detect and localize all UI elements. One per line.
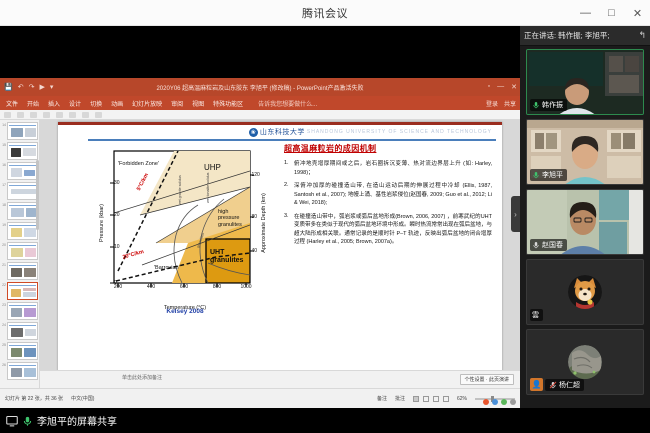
collapse-roster-button[interactable]: ›	[511, 196, 520, 232]
avatar	[568, 345, 602, 379]
window-title: 腾讯会议	[302, 5, 348, 21]
thumbnail-preview[interactable]	[7, 202, 38, 220]
shared-screen-region[interactable]: 💾 ↶ ↷ ▶ ▾ 2020Y06 超高温麻粒岩及山东胶东 李旭平 (修改稿) …	[0, 26, 520, 408]
bullet-number: 1.	[284, 160, 291, 177]
ribbon-command-icon[interactable]	[82, 112, 89, 118]
microphone-on-icon	[532, 101, 540, 109]
thumbnail-scrollbar[interactable]	[36, 160, 39, 230]
slide-text-column: 超高温麻粒岩的成因机制 1. 俯冲地壳增厚期间或之后，岩石圈拆沉变薄、热对流边界…	[284, 143, 492, 252]
thumbnail-preview[interactable]	[7, 242, 38, 260]
x-tick-label: 200	[114, 284, 122, 290]
tencent-meeting-window: 腾讯会议 — □ ✕ 💾 ↶ ↷ ▶ ▾ 2020Y06 超高	[0, 0, 650, 433]
thumbnail-preview[interactable]	[7, 162, 38, 180]
view-mode-buttons[interactable]	[413, 396, 449, 402]
y2-axis-label: Approximate Depth (km)	[261, 193, 267, 253]
thumbnail-preview[interactable]	[7, 122, 38, 140]
annotation-forbidden-zone: 'Forbidden Zone'	[118, 161, 159, 167]
language-indicator[interactable]: 中文(中国)	[71, 395, 94, 402]
active-speaker-bar: 正在讲话: 韩作振; 李旭平; ↰	[520, 26, 650, 46]
slide-thumbnail[interactable]: 14	[1, 122, 38, 140]
annotation-hp-granulites: high pressure granulites	[218, 209, 250, 228]
y-axis-label: Pressure (kbar)	[99, 204, 105, 242]
thumbnail-number: 15	[1, 142, 6, 147]
powerpoint-window: 💾 ↶ ↷ ▶ ▾ 2020Y06 超高温麻粒岩及山东胶东 李旭平 (修改稿) …	[0, 78, 520, 408]
participant-tile[interactable]: 李旭平	[526, 119, 644, 185]
microphone-muted-icon	[549, 381, 557, 389]
y2-tick-label: 120	[252, 172, 260, 178]
x-axis-label: Temperature (°C)	[96, 305, 274, 311]
ribbon-command-icon[interactable]	[95, 112, 102, 118]
avatar-container	[527, 260, 643, 324]
close-button[interactable]: ✕	[631, 7, 644, 20]
notes-toggle[interactable]: 备注	[377, 395, 387, 402]
screen-share-icon[interactable]	[6, 415, 18, 427]
remote-control-icon[interactable]	[501, 399, 507, 405]
thumbnail-number: 17	[1, 182, 6, 187]
slide-thumbnail[interactable]: 17	[1, 182, 38, 200]
window-controls: — □ ✕	[579, 0, 644, 26]
slide-thumbnail[interactable]: 24	[1, 322, 38, 340]
screen-share-status-label: 李旭平的屏幕共享	[37, 413, 117, 428]
university-logo: ❀ 山东科技大学 SHANDONG UNIVERSITY OF SCIENCE …	[249, 127, 492, 137]
ppt-close-icon[interactable]: ✕	[511, 83, 517, 91]
thumbnail-preview[interactable]	[7, 362, 38, 380]
thumbnail-number: 26	[1, 362, 6, 367]
slide-thumbnail[interactable]: 25	[1, 342, 38, 360]
participant-tile[interactable]: 韩作振	[526, 49, 644, 115]
slide-thumbnail-panel[interactable]: 14 15	[0, 120, 40, 388]
university-logo-text: 山东科技大学	[260, 127, 305, 137]
ribbon-command-icon[interactable]	[56, 112, 63, 118]
participant-name-tag: 韩作振	[530, 99, 567, 111]
slide-thumbnail[interactable]: 26	[1, 362, 38, 380]
ppt-restore-icon[interactable]: ▫	[488, 83, 490, 91]
thumbnail-preview[interactable]	[7, 142, 38, 160]
window-title-bar: 腾讯会议 — □ ✕	[0, 0, 650, 26]
thumbnail-number: 23	[1, 302, 6, 307]
powerpoint-ribbon-tabs[interactable]: 文件 开始 插入 设计 切换 动画 幻灯片放映 审阅 视图 特殊功能区 告诉我您…	[0, 96, 520, 110]
thumbnail-number: 25	[1, 342, 6, 347]
meeting-bottom-bar: 李旭平的屏幕共享	[0, 408, 650, 433]
bullet-text: 深俯冲加厚的碰撞造山带, 在造山运动后期的伸展过程中冷却 (Ellis, 198…	[294, 182, 492, 208]
participant-name: 赵国春	[542, 240, 563, 250]
thumbnail-preview[interactable]	[7, 342, 38, 360]
participant-name: 雲	[532, 310, 539, 320]
x-tick-label: 400	[147, 284, 155, 290]
slide-title: 超高温麻粒岩的成因机制	[284, 143, 492, 154]
current-slide[interactable]: ❀ 山东科技大学 SHANDONG UNIVERSITY OF SCIENCE …	[58, 122, 502, 372]
zoom-level[interactable]: 62%	[457, 396, 467, 402]
slide-thumbnail[interactable]: 18	[1, 202, 38, 220]
ribbon-command-icon[interactable]	[69, 112, 76, 118]
powerpoint-account-area[interactable]: 登录 共享	[486, 99, 516, 108]
ribbon-tab-review[interactable]: 审阅	[171, 99, 183, 108]
y2-tick-label: 40	[252, 248, 258, 254]
ppt-minimize-icon[interactable]: —	[497, 83, 504, 91]
maximize-button[interactable]: □	[605, 7, 618, 19]
tell-me-search[interactable]: 告诉我您想要做什么...	[258, 99, 317, 108]
participant-tile[interactable]: 👤 杨仁超	[526, 329, 644, 395]
bullet-number: 2.	[284, 182, 291, 208]
microphone-off-icon	[532, 241, 540, 249]
chevron-right-icon: ›	[514, 210, 517, 219]
y2-tick-label: 80	[252, 214, 258, 220]
pt-diagram-figure: Pressure (kbar) Approximate Depth (km) T…	[96, 147, 274, 315]
rock-photo-avatar-icon	[568, 345, 602, 379]
participant-name: 韩作振	[542, 100, 563, 110]
slide-divider	[88, 139, 496, 141]
ribbon-tab-transitions[interactable]: 切换	[90, 99, 102, 108]
participant-tile[interactable]: 雲	[526, 259, 644, 325]
slide-thumbnail[interactable]: 20	[1, 242, 38, 260]
slide-thumbnail[interactable]: 16	[1, 162, 38, 180]
powerpoint-title-bar: 💾 ↶ ↷ ▶ ▾ 2020Y06 超高温麻粒岩及山东胶东 李旭平 (修改稿) …	[0, 78, 520, 96]
x-tick-label: 1000	[240, 284, 251, 290]
bullet-number: 3.	[284, 213, 291, 247]
normal-view-button[interactable]	[413, 396, 419, 402]
powerpoint-window-controls[interactable]: ▫ — ✕	[488, 83, 517, 91]
slide-thumbnail-selected[interactable]: 22	[1, 282, 38, 300]
participant-roster-panel: › 正在讲话: 韩作振; 李旭平; ↰	[520, 26, 650, 408]
thumbnail-preview[interactable]	[7, 262, 38, 280]
university-logo-subtext: SHANDONG UNIVERSITY OF SCIENCE AND TECHN…	[307, 129, 492, 135]
ribbon-tab-design[interactable]: 设计	[69, 99, 81, 108]
ribbon-command-icon[interactable]	[17, 112, 24, 118]
slide-thumbnail[interactable]: 23	[1, 302, 38, 320]
thumbnail-number: 19	[1, 222, 6, 227]
participant-name-tag: 李旭平	[530, 169, 567, 181]
share-toolbar[interactable]	[483, 399, 516, 405]
bullet-text: 在碰撞造山带中，弧岩浆或弧后盆地形成(Brown, 2006, 2007) ，前…	[294, 213, 492, 247]
ribbon-tab-animations[interactable]: 动画	[111, 99, 123, 108]
ribbon-tab-insert[interactable]: 插入	[48, 99, 60, 108]
thumbnail-preview[interactable]	[7, 182, 38, 200]
powerpoint-ribbon-commands[interactable]	[0, 110, 520, 120]
thumbnail-number: 18	[1, 202, 6, 207]
return-to-meeting-icon[interactable]: ↰	[638, 30, 646, 41]
thumbnail-number: 20	[1, 242, 6, 247]
slide-thumbnail[interactable]: 21	[1, 262, 38, 280]
ribbon-tab-home[interactable]: 开始	[27, 99, 39, 108]
slide-sorter-button[interactable]	[423, 396, 429, 402]
participant-name-tag: 👤 杨仁超	[530, 378, 584, 391]
participant-name: 杨仁超	[559, 380, 580, 390]
notes-placeholder: 单击此处添加备注	[122, 375, 162, 381]
participant-name-tag: 雲	[530, 309, 543, 321]
thumbnail-number: 21	[1, 262, 6, 267]
avatar	[568, 275, 602, 309]
powerpoint-status-bar: 幻灯片 第 22 张，共 36 张 中文(中国) 备注 批注 62%	[0, 388, 520, 408]
slide-thumbnail[interactable]: 19	[1, 222, 38, 240]
comments-toggle[interactable]: 批注	[395, 395, 405, 402]
participant-name-box: 杨仁超	[545, 379, 584, 391]
reading-view-button[interactable]	[433, 396, 439, 402]
slide-bullet: 1. 俯冲地壳增厚期间或之后，岩石圈拆沉变薄、热对流边界层上升 (如: Harl…	[284, 160, 492, 177]
more-share-options-icon[interactable]	[510, 399, 516, 405]
powerpoint-workspace: 14 15	[0, 120, 520, 388]
thumbnail-preview[interactable]	[7, 322, 38, 340]
slide-bullet: 2. 深俯冲加厚的碰撞造山带, 在造山运动后期的伸展过程中冷却 (Ellis, …	[284, 182, 492, 208]
slide-canvas[interactable]: ❀ 山东科技大学 SHANDONG UNIVERSITY OF SCIENCE …	[40, 120, 520, 388]
thumbnail-preview[interactable]	[7, 222, 38, 240]
dog-avatar-icon	[568, 275, 602, 309]
ribbon-tab-addins[interactable]: 特殊功能区	[213, 99, 243, 108]
minimize-button[interactable]: —	[579, 7, 592, 19]
participant-tile[interactable]: 赵国春	[526, 189, 644, 255]
participant-name: 李旭平	[542, 170, 563, 180]
thumbnail-number: 24	[1, 322, 6, 327]
x-tick-label: 600	[180, 284, 188, 290]
annotation-uhp: UHP	[204, 163, 221, 172]
share-label[interactable]: 共享	[504, 99, 516, 108]
pt-diagram-plot: Pressure (kbar) Approximate Depth (km) T…	[96, 147, 274, 299]
ribbon-command-icon[interactable]	[43, 112, 50, 118]
slide-counter: 幻灯片 第 22 张，共 36 张	[5, 395, 63, 402]
thumbnail-number: 16	[1, 162, 6, 167]
x-tick-label: 800	[213, 284, 221, 290]
slide-thumbnail[interactable]: 15	[1, 142, 38, 160]
bullet-text: 俯冲地壳增厚期间或之后，岩石圈拆沉变薄、热对流边界层上升 (如: Harley,…	[294, 160, 492, 177]
ribbon-tab-file[interactable]: 文件	[6, 99, 18, 108]
sign-in-label[interactable]: 登录	[486, 99, 498, 108]
meeting-stage: 💾 ↶ ↷ ▶ ▾ 2020Y06 超高温麻粒岩及山东胶东 李旭平 (修改稿) …	[0, 26, 650, 408]
thumbnail-number: 14	[1, 122, 6, 127]
participant-tiles: 韩作振	[520, 46, 650, 408]
host-badge-icon: 👤	[530, 378, 543, 391]
thumbnail-preview[interactable]	[7, 302, 38, 320]
thumbnail-preview[interactable]	[7, 282, 38, 300]
ribbon-tab-view[interactable]: 视图	[192, 99, 204, 108]
participant-name-tag: 赵国春	[530, 239, 567, 251]
slideshow-button[interactable]	[443, 396, 449, 402]
active-speaker-label: 正在讲话: 韩作振; 李旭平;	[524, 30, 635, 41]
annotation-barrovian: 'Barrovian'	[154, 265, 180, 271]
microphone-icon[interactable]	[22, 415, 33, 427]
thumbnail-number: 22	[1, 282, 6, 287]
ribbon-tab-slideshow[interactable]: 幻灯片放映	[132, 99, 162, 108]
annotation-wet-granite-solidus: wet granite solidus	[178, 175, 182, 205]
slide-bullet: 3. 在碰撞造山带中，弧岩浆或弧后盆地形成(Brown, 2006, 2007)…	[284, 213, 492, 247]
powerpoint-document-title: 2020Y06 超高温麻粒岩及山东胶东 李旭平 (修改稿) - PowerPoi…	[0, 83, 520, 92]
annotation-wet-tonalite-solidus: wet tonalite solidus	[206, 173, 210, 203]
stop-share-icon[interactable]	[483, 399, 489, 405]
university-emblem-icon: ❀	[249, 128, 258, 137]
ribbon-command-icon[interactable]	[4, 112, 11, 118]
ribbon-command-icon[interactable]	[30, 112, 37, 118]
microphone-on-icon	[532, 171, 540, 179]
slide-content: ❀ 山东科技大学 SHANDONG UNIVERSITY OF SCIENCE …	[74, 125, 496, 372]
annotate-icon[interactable]	[492, 399, 498, 405]
notes-action-button[interactable]: 个性设置 · 此页演讲	[460, 374, 514, 385]
slide-notes-pane[interactable]: 单击此处添加备注 个性设置 · 此页演讲	[40, 370, 520, 388]
annotation-uht-granulites: UHT granulites	[210, 249, 248, 265]
